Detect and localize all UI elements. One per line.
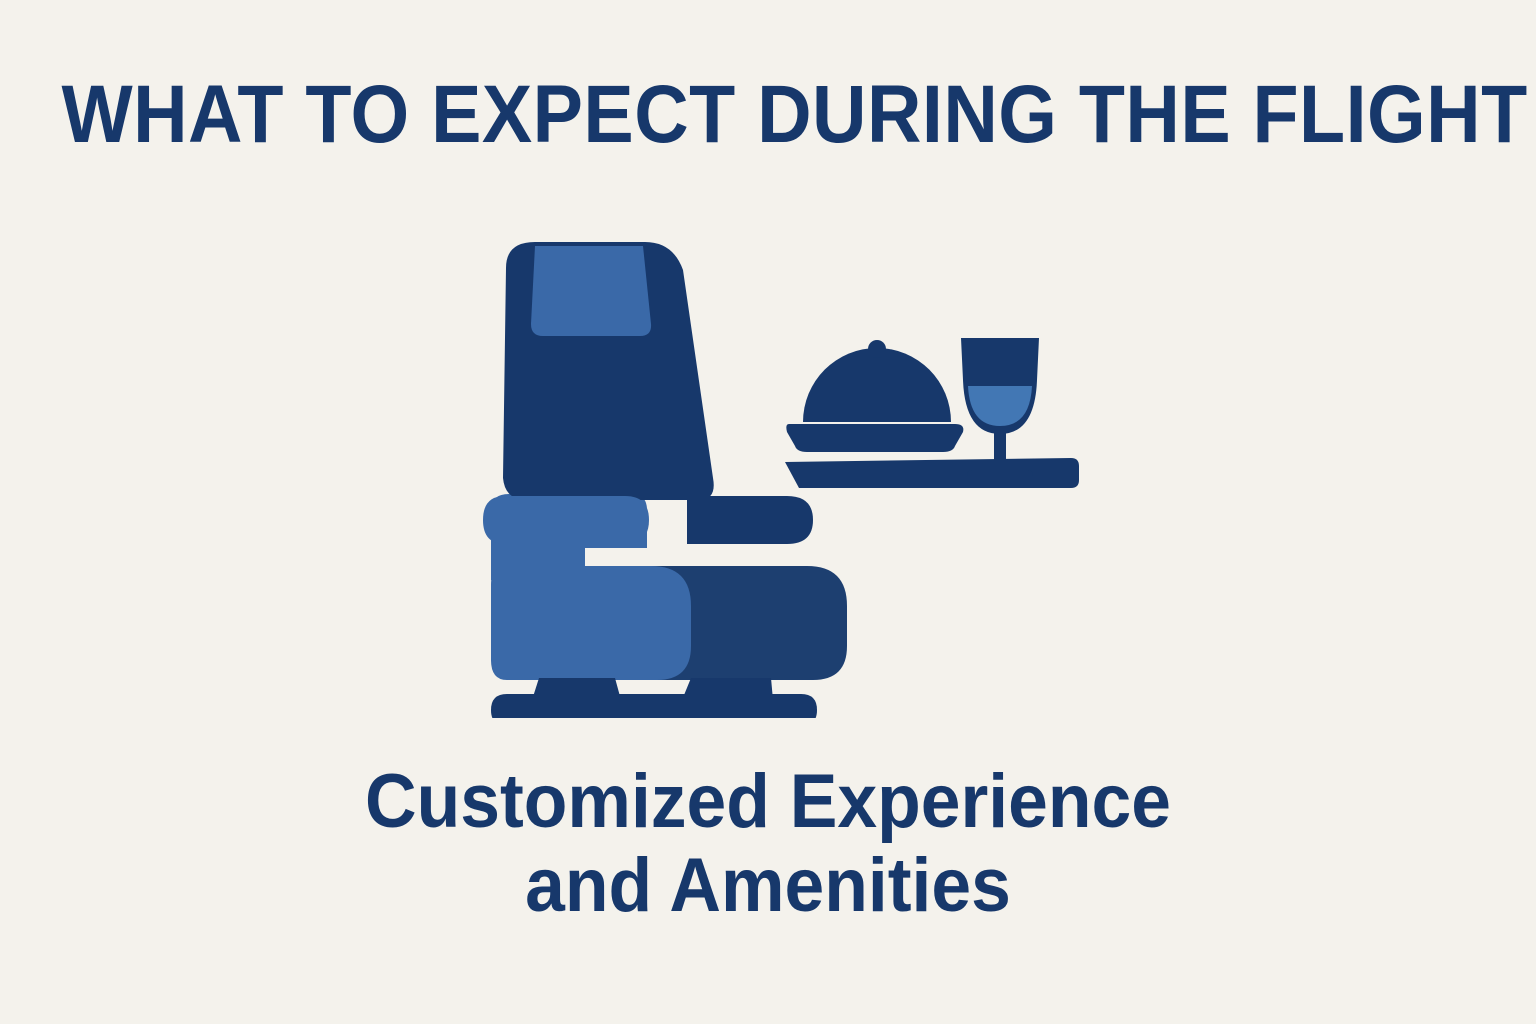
caption-line-2: and Amenities <box>46 844 1490 928</box>
armrest <box>483 496 649 544</box>
tray-table-icon <box>785 458 1079 488</box>
seat-base-rail <box>491 694 817 718</box>
seat-cushion-front <box>491 566 691 680</box>
wine-glass-stem <box>994 432 1006 472</box>
cloche-knob-icon <box>868 340 886 358</box>
caption-line-1: Customized Experience <box>46 760 1490 844</box>
wine-glass-foot <box>967 470 1033 486</box>
armrest-extension <box>687 496 813 544</box>
page-title: WHAT TO EXPECT DURING THE FLIGHT <box>61 72 1474 158</box>
cloche-dome-icon <box>803 340 951 422</box>
caption: Customized Experience and Amenities <box>46 760 1490 928</box>
illustration-airline-seat-with-meal-service <box>455 228 1085 718</box>
headrest-cushion <box>531 246 651 336</box>
serving-platter-icon <box>786 424 963 452</box>
poster-canvas: WHAT TO EXPECT DURING THE FLIGHT <box>0 0 1536 1024</box>
